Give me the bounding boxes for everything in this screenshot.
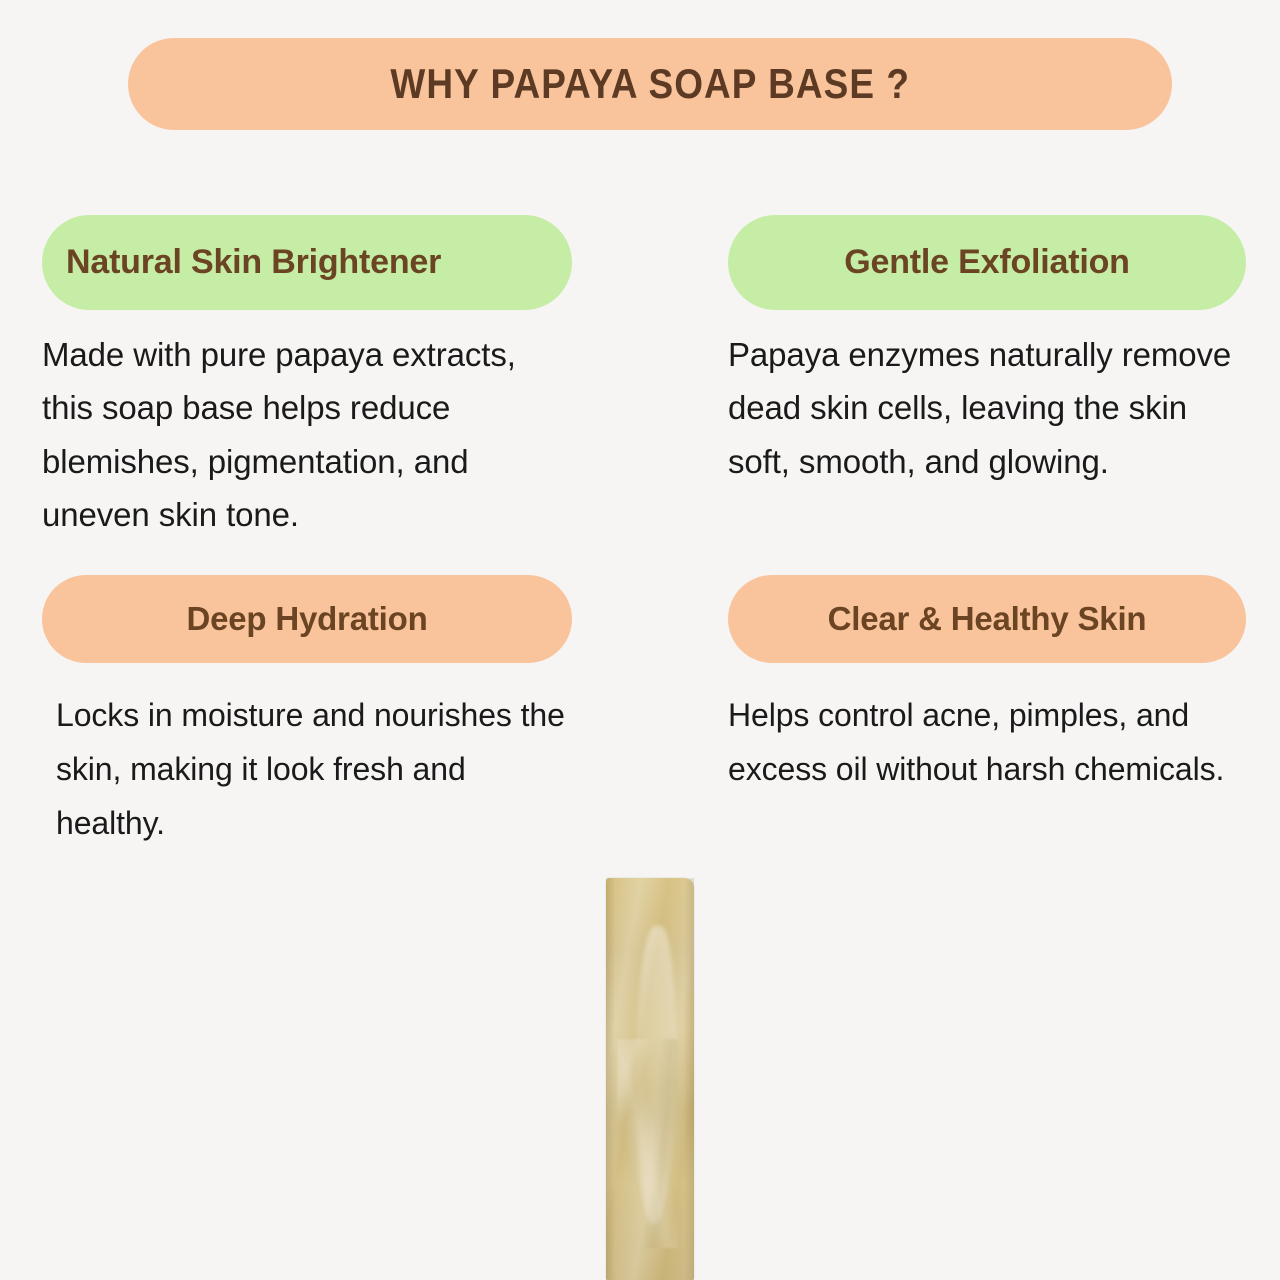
soap-bar-left-edge — [606, 878, 615, 1280]
feature-body-text: Locks in moisture and nourishes the skin… — [42, 689, 572, 850]
feature-card-clear-healthy-skin: Clear & Healthy Skin Helps control acne,… — [728, 575, 1246, 797]
feature-card-gentle-exfoliation: Gentle Exfoliation Papaya enzymes natura… — [728, 215, 1246, 488]
infographic-page: WHY PAPAYA SOAP BASE ? Natural Skin Brig… — [0, 0, 1280, 1280]
soap-bar-shape — [606, 878, 694, 1280]
soap-bar-right-edge — [684, 878, 694, 1280]
feature-heading-label: Natural Skin Brightener — [66, 243, 441, 282]
soap-bar-wrapper-crease — [617, 1039, 679, 1248]
feature-card-natural-skin-brightener: Natural Skin Brightener Made with pure p… — [42, 215, 572, 542]
title-banner: WHY PAPAYA SOAP BASE ? — [128, 38, 1172, 130]
feature-body-text: Papaya enzymes naturally remove dead ski… — [728, 328, 1246, 488]
feature-heading-pill-natural-skin-brightener: Natural Skin Brightener — [42, 215, 572, 310]
product-image-papaya-soap-bar — [606, 878, 694, 1280]
feature-heading-pill-clear-healthy-skin: Clear & Healthy Skin — [728, 575, 1246, 663]
page-title: WHY PAPAYA SOAP BASE ? — [390, 60, 910, 108]
feature-heading-label: Deep Hydration — [186, 600, 427, 638]
feature-heading-label: Gentle Exfoliation — [844, 243, 1129, 282]
feature-heading-pill-gentle-exfoliation: Gentle Exfoliation — [728, 215, 1246, 310]
feature-body-text: Made with pure papaya extracts, this soa… — [42, 328, 572, 542]
feature-card-deep-hydration: Deep Hydration Locks in moisture and nou… — [42, 575, 572, 850]
feature-body-text: Helps control acne, pimples, and excess … — [728, 689, 1246, 797]
feature-heading-label: Clear & Healthy Skin — [828, 600, 1147, 638]
feature-heading-pill-deep-hydration: Deep Hydration — [42, 575, 572, 663]
